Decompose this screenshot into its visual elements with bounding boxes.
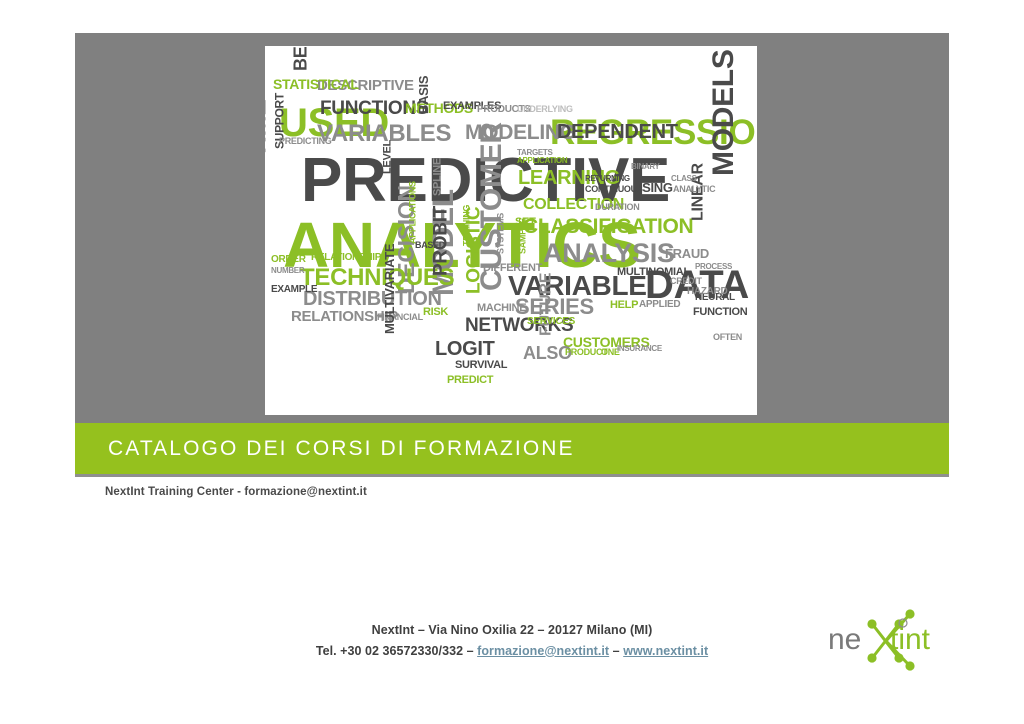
footer-website-link[interactable]: www.nextint.it: [623, 644, 708, 658]
nextint-logo-mark: ne tint: [826, 601, 966, 673]
wordcloud-word: EXAMPLE: [271, 286, 317, 295]
wordcloud-word: APPLICATIONS: [409, 181, 417, 244]
wordcloud-word: OFTEN: [713, 334, 742, 342]
wordcloud-word: SURVIVAL: [455, 361, 507, 370]
wordcloud-word: DISTRIBUTION: [303, 291, 442, 308]
wordcloud-word: TRAINING: [463, 205, 471, 246]
wordcloud-word: HAZARD: [687, 288, 727, 297]
wordcloud-word: BINARY: [631, 164, 660, 171]
wordcloud-word: INSURANCE: [617, 346, 662, 353]
footer-email-link[interactable]: formazione@nextint.it: [477, 644, 609, 658]
wordcloud-word: RELATIONSHIPS: [311, 254, 387, 263]
wordcloud-word: ORDER: [271, 256, 306, 265]
wordcloud-word: TIME: [265, 99, 269, 158]
wordcloud-word: DEPENDENT: [557, 124, 678, 141]
page-title: CATALOGO DEI CORSI DI FORMAZIONE: [75, 437, 575, 461]
wordcloud-word: UNDERLYING: [517, 106, 573, 114]
wordcloud-word: RISK: [423, 308, 448, 317]
wordcloud-word: FUNCTION: [693, 308, 747, 317]
wordcloud-image: PREDICTIVEANALYTICSREGRESSIONUSEDMODELSC…: [265, 46, 757, 415]
wordcloud-word: RETURNING: [585, 176, 630, 183]
wordcloud-word: MODELS: [711, 49, 737, 176]
wordcloud-word: SERVICES: [527, 318, 575, 327]
wordcloud-word: PREDICT: [447, 376, 493, 385]
footer-separator: –: [609, 644, 623, 658]
wordcloud-word: NUMBER: [271, 268, 304, 275]
wordcloud-word: CLASSIFICATION: [523, 218, 693, 236]
wordcloud-word: SYSTEMS: [497, 213, 505, 254]
wordcloud-word: STATISTICAL: [273, 78, 359, 90]
wordcloud-word: PREDICTING: [279, 138, 332, 146]
wordcloud-word: DURATION: [595, 204, 639, 212]
wordcloud-word: ANALYSIS: [543, 242, 675, 265]
wordcloud-word: LEVEL: [384, 140, 393, 174]
page-subtitle: NextInt Training Center - formazione@nex…: [105, 486, 367, 498]
wordcloud-word: APPLIED: [639, 301, 680, 310]
wordcloud-word: CONTINUOUS: [585, 186, 643, 194]
logo-text-nex: ne: [828, 623, 861, 656]
wordcloud-word: LOGIT: [435, 341, 495, 358]
wordcloud-word: BEHAVIOR: [294, 46, 309, 71]
footer-phone: Tel. +30 02 36572330/332 –: [316, 644, 477, 658]
wordcloud-word: BASED: [415, 242, 445, 250]
nextint-logo: ne tint: [826, 601, 966, 673]
banner-bottom-rule: [75, 474, 949, 477]
wordcloud-word: TARGETS: [517, 150, 553, 157]
wordcloud-word: ANALYTIC: [673, 186, 715, 194]
wordcloud-word: SPLINE: [434, 158, 443, 196]
wordcloud-word: DIFFERENT: [483, 264, 542, 273]
wordcloud-word: FRAUD: [665, 248, 709, 259]
catalog-title-banner: CATALOGO DEI CORSI DI FORMAZIONE: [75, 423, 949, 474]
wordcloud-word: SAMPLE: [519, 218, 527, 254]
wordcloud-word: HELP: [610, 301, 638, 310]
wordcloud-layer: PREDICTIVEANALYTICSREGRESSIONUSEDMODELSC…: [265, 46, 757, 415]
wordcloud-word: APPLICATION: [517, 158, 567, 165]
wordcloud-word: MULTIVARIATE: [384, 244, 395, 334]
wordcloud-word: MACHINE: [477, 304, 526, 313]
catalog-cover-page: PREDICTIVEANALYTICSREGRESSIONUSEDMODELSC…: [0, 0, 1024, 724]
wordcloud-word: CREDIT: [670, 278, 702, 286]
wordcloud-word: CLASS: [671, 176, 697, 183]
wordcloud-word: PROCESS: [695, 264, 732, 271]
logo-text-tint: tint: [890, 623, 931, 656]
wordcloud-word: BASIS: [418, 76, 429, 114]
